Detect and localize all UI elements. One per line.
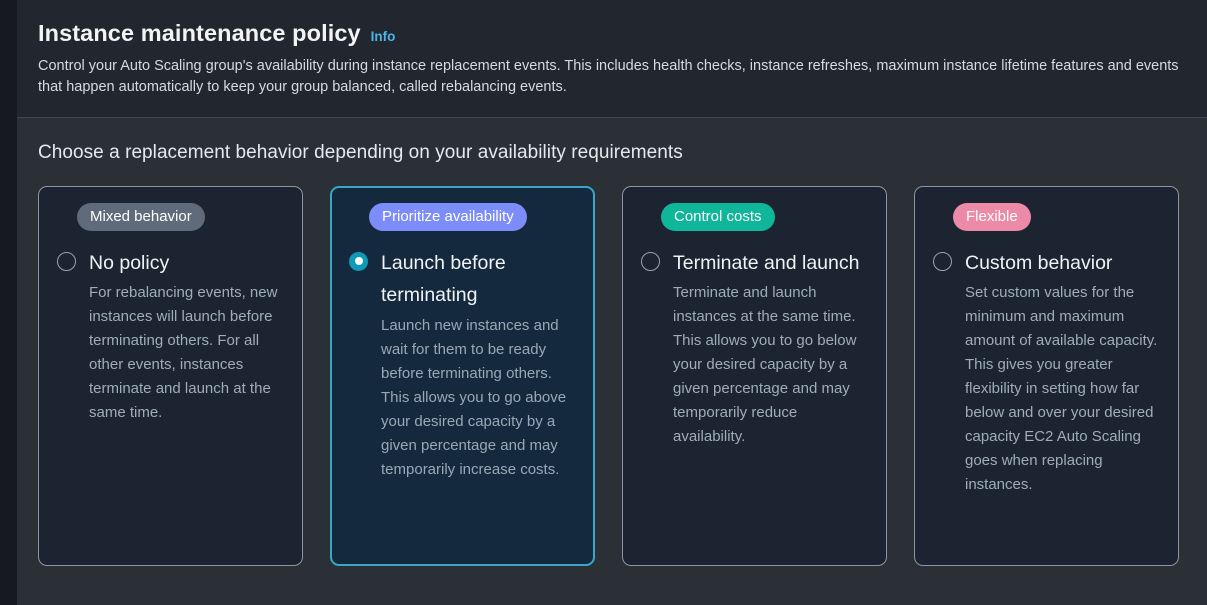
title-row: Instance maintenance policy Info: [38, 20, 1186, 47]
status-badge: Flexible: [953, 203, 1031, 231]
page-root: Instance maintenance policy Info Control…: [0, 0, 1207, 605]
option-texts: Terminate and launch Terminate and launc…: [673, 247, 868, 450]
info-link[interactable]: Info: [371, 29, 396, 44]
card-no-policy[interactable]: Mixed behavior No policy For rebalancing…: [38, 186, 303, 566]
option-row[interactable]: No policy For rebalancing events, new in…: [57, 247, 284, 426]
option-description: For rebalancing events, new instances wi…: [89, 281, 284, 425]
option-row[interactable]: Terminate and launch Terminate and launc…: [641, 247, 868, 450]
panel-body: Choose a replacement behavior depending …: [17, 118, 1207, 566]
replacement-behavior-card-group: Mixed behavior No policy For rebalancing…: [38, 186, 1186, 566]
card-terminate-and-launch[interactable]: Control costs Terminate and launch Termi…: [622, 186, 887, 566]
option-texts: Custom behavior Set custom values for th…: [965, 247, 1160, 498]
panel-description: Control your Auto Scaling group's availa…: [38, 56, 1183, 99]
option-description: Set custom values for the minimum and ma…: [965, 281, 1160, 497]
option-description: Terminate and launch instances at the sa…: [673, 281, 868, 449]
status-badge: Prioritize availability: [369, 203, 527, 231]
option-texts: No policy For rebalancing events, new in…: [89, 247, 284, 426]
radio-icon-custom-behavior[interactable]: [933, 252, 952, 271]
badge-row: Prioritize availability: [369, 203, 576, 231]
radio-icon-terminate-and-launch[interactable]: [641, 252, 660, 271]
panel-header: Instance maintenance policy Info Control…: [17, 0, 1207, 118]
badge-row: Flexible: [953, 203, 1160, 231]
option-texts: Launch before terminating Launch new ins…: [381, 247, 576, 482]
option-title: No policy: [89, 247, 284, 280]
status-badge: Mixed behavior: [77, 203, 205, 231]
badge-row: Mixed behavior: [77, 203, 284, 231]
option-title: Custom behavior: [965, 247, 1160, 280]
badge-row: Control costs: [661, 203, 868, 231]
section-heading: Choose a replacement behavior depending …: [38, 142, 1186, 164]
page-title: Instance maintenance policy: [38, 20, 361, 47]
left-rail: [0, 0, 17, 605]
instance-maintenance-policy-panel: Instance maintenance policy Info Control…: [17, 0, 1207, 605]
option-description: Launch new instances and wait for them t…: [381, 314, 576, 482]
radio-icon-launch-before-terminating[interactable]: [349, 252, 368, 271]
option-title: Launch before terminating: [381, 247, 576, 312]
option-row[interactable]: Launch before terminating Launch new ins…: [349, 247, 576, 482]
status-badge: Control costs: [661, 203, 775, 231]
card-custom-behavior[interactable]: Flexible Custom behavior Set custom valu…: [914, 186, 1179, 566]
radio-icon-no-policy[interactable]: [57, 252, 76, 271]
option-title: Terminate and launch: [673, 247, 868, 280]
option-row[interactable]: Custom behavior Set custom values for th…: [933, 247, 1160, 498]
card-launch-before-terminating[interactable]: Prioritize availability Launch before te…: [330, 186, 595, 566]
